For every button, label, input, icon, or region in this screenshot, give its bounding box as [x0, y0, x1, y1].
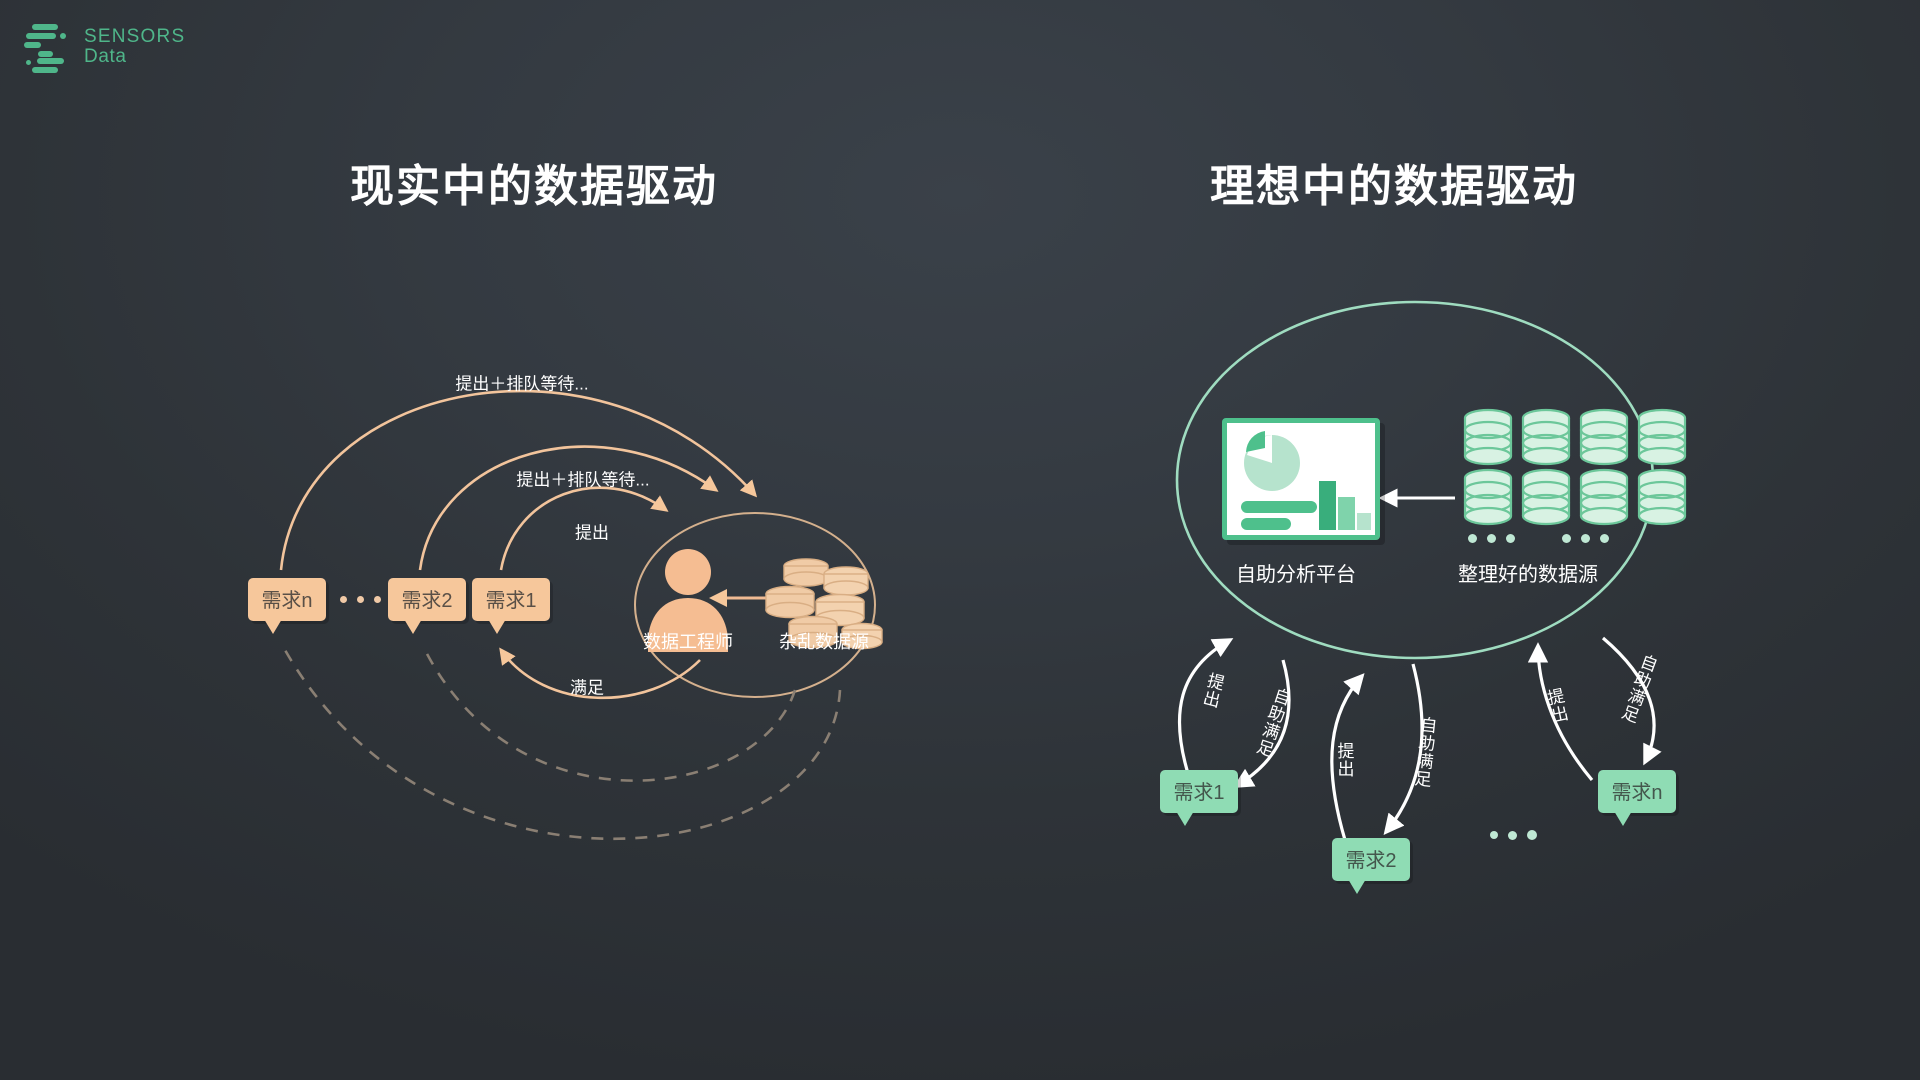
right-tag-request-2-label: 需求2 [1345, 844, 1396, 873]
left-arc-label-n: 提出＋排队等待... [455, 370, 588, 395]
right-tag-request-1-label: 需求1 [1173, 776, 1224, 805]
right-tag-request-1[interactable]: 需求1 [1160, 770, 1238, 813]
right-tag-request-2[interactable]: 需求2 [1332, 838, 1410, 881]
tag-pointer [264, 619, 282, 634]
left-arc-label-2: 提出＋排队等待... [516, 466, 649, 491]
left-arc-label-1: 提出 [575, 519, 609, 544]
right-node-caption-platform: 自助分析平台 [1236, 558, 1356, 587]
right-tag-request-n[interactable]: 需求n [1598, 770, 1676, 813]
left-arc-label-satisfy: 满足 [570, 674, 604, 699]
left-node-caption-engineer: 数据工程师 [643, 628, 733, 654]
left-node-caption-messy-data: 杂乱数据源 [779, 628, 869, 654]
left-tag-request-2-label: 需求2 [401, 584, 452, 613]
tag-pointer [404, 619, 422, 634]
left-tag-request-1[interactable]: 需求1 [472, 578, 550, 621]
left-tag-request-1-label: 需求1 [485, 584, 536, 613]
tag-pointer [1614, 811, 1632, 826]
left-tag-request-2[interactable]: 需求2 [388, 578, 466, 621]
diagram-vectors [0, 0, 1920, 1080]
left-arc-dashed-2 [425, 650, 795, 781]
right-node-caption-tidy-data: 整理好的数据源 [1458, 558, 1598, 587]
tag-pointer [1176, 811, 1194, 826]
right-ellipsis [1490, 830, 1537, 840]
left-tag-request-n-label: 需求n [261, 584, 312, 613]
slide-canvas: SENSORS Data 现实中的数据驱动 理想中的数据驱动 [0, 0, 1920, 1080]
tag-pointer [1348, 879, 1366, 894]
right-arc-submit-1 [1179, 640, 1230, 780]
left-tag-request-n[interactable]: 需求n [248, 578, 326, 621]
right-db-ellipsis-right [1562, 534, 1609, 543]
left-ellipsis [340, 596, 381, 603]
left-arc-dashed-n [285, 650, 840, 839]
analytics-dashboard-icon [1222, 418, 1380, 540]
right-db-ellipsis-left [1468, 534, 1515, 543]
tag-pointer [488, 619, 506, 634]
right-arc-label-submit-2: 提出 [1332, 742, 1357, 778]
right-tag-request-n-label: 需求n [1611, 776, 1662, 805]
